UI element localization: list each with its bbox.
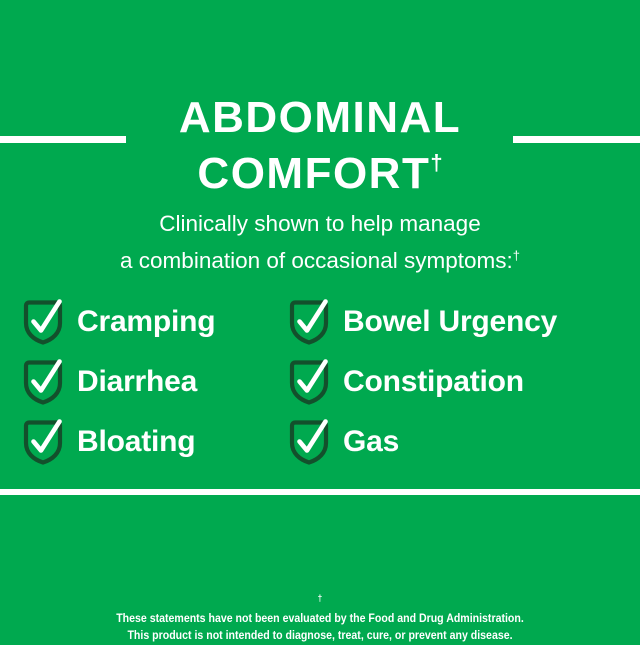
page-title-line-2-text: COMFORT [197,149,430,198]
disclaimer-dagger-symbol: † [318,593,323,603]
list-item: Gas [278,412,640,472]
title-block: ABDOMINAL COMFORT† [0,96,640,196]
title-rule-right [513,136,640,143]
disclaimer-line-2: This product is not intended to diagnose… [26,628,615,645]
symptom-label: Bowel Urgency [343,305,557,339]
page-title-line-2: COMFORT† [0,152,640,196]
title-first-line-row: ABDOMINAL [0,96,640,144]
list-item: Constipation [278,352,640,412]
footer-divider-bar [0,489,640,495]
abdominal-comfort-poster: ABDOMINAL COMFORT† Clinically shown to h… [0,0,640,640]
symptom-label: Cramping [77,305,215,339]
list-item: Bloating [0,412,278,472]
symptom-label: Diarrhea [77,365,197,399]
symptom-label: Constipation [343,365,524,399]
list-item: Bowel Urgency [278,292,640,352]
subtitle-line-1: Clinically shown to help manage [0,208,640,240]
shield-check-icon [22,359,64,405]
symptom-label: Bloating [77,425,195,459]
symptom-row: Bloating Gas [0,412,640,472]
symptom-row: Cramping Bowel Urgency [0,292,640,352]
shield-check-icon [288,359,330,405]
disclaimer-line-1: †These statements have not been evaluate… [26,590,615,628]
disclaimer-line-1-text: These statements have not been evaluated… [26,611,615,628]
subtitle-block: Clinically shown to help manage a combin… [0,208,640,277]
subtitle-dagger-symbol: † [513,248,520,263]
page-title-line-1: ABDOMINAL [0,96,640,140]
subtitle-line-2: a combination of occasional symptoms:† [0,240,640,277]
subtitle-line-2-text: a combination of occasional symptoms: [120,248,513,273]
shield-check-icon [288,419,330,465]
title-dagger-symbol: † [430,150,442,175]
symptom-label: Gas [343,425,399,459]
disclaimer-footer: †These statements have not been evaluate… [26,590,615,645]
symptom-list: Cramping Bowel Urgency Diarrhea [0,292,640,472]
shield-check-icon [22,299,64,345]
list-item: Cramping [0,292,278,352]
shield-check-icon [22,419,64,465]
list-item: Diarrhea [0,352,278,412]
symptom-row: Diarrhea Constipation [0,352,640,412]
shield-check-icon [288,299,330,345]
